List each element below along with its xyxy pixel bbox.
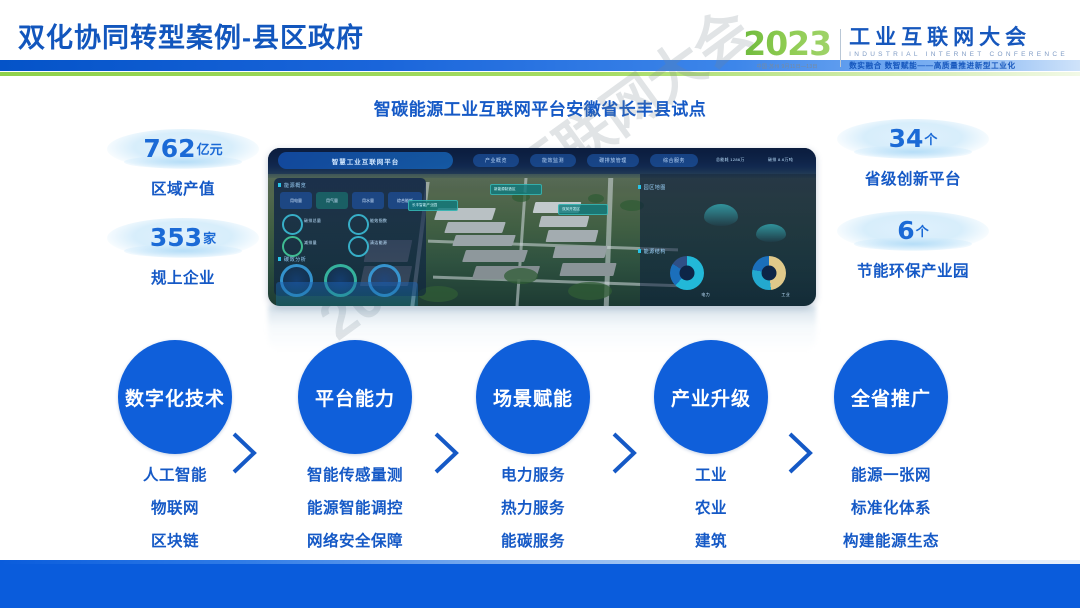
- logo-divider: [840, 29, 841, 67]
- factory-block: [462, 250, 528, 262]
- dashboard-platform-title: 智慧工业互联网平台: [278, 152, 453, 169]
- dashboard-section-energy: 能源概览: [284, 182, 306, 189]
- dashboard-screenshot[interactable]: 智慧工业互联网平台 产业概览 能效监测 碳排放管理 综合服务 总能耗 1286万…: [268, 148, 816, 306]
- stat-value: 762: [143, 134, 195, 163]
- dashboard-kpi-1: 用气量: [316, 192, 348, 209]
- stat-value: 6: [897, 216, 914, 245]
- map-tag-title: 新能源制造区: [494, 187, 538, 192]
- gauge-ring-1: [282, 236, 303, 257]
- donut-chart-1: [752, 256, 786, 290]
- flow-node-scenario-enablement[interactable]: 场景赋能 电力服务 热力服务 能碳服务: [438, 340, 628, 566]
- flow-item: 智能传感量测: [260, 467, 450, 484]
- flow-arrow-1: [228, 430, 262, 476]
- header-rule-green: [0, 72, 1080, 76]
- flow-node-items: 能源一张网 标准化体系 构建能源生态: [796, 467, 986, 550]
- stat-label: 规上企业: [88, 266, 278, 288]
- map-tag-title: 长丰智能产业园: [412, 203, 454, 208]
- tree-cluster: [568, 282, 612, 300]
- flow-node-platform-capability[interactable]: 平台能力 智能传感量测 能源智能调控 网络安全保障: [260, 340, 450, 566]
- dashboard-nav-item-3[interactable]: 综合服务: [650, 154, 698, 167]
- factory-block: [553, 246, 608, 258]
- stat-pod: 34个: [818, 116, 1008, 160]
- flow-node-items: 智能传感量测 能源智能调控 网络安全保障: [260, 467, 450, 550]
- flow-item: 标准化体系: [796, 500, 986, 517]
- stat-unit: 亿元: [197, 139, 223, 158]
- stat-unit: 个: [916, 221, 929, 240]
- flow-item: 区块链: [80, 533, 270, 550]
- flow-node-circle: 平台能力: [298, 340, 412, 454]
- map-tag-title: 双凤开发区: [562, 207, 604, 212]
- donut-legend-1: 工业: [781, 292, 790, 298]
- flow-item: 能源智能调控: [260, 500, 450, 517]
- slide-root: 双化协同转型案例-县区政府 2023 中国·苏州 9月11日—13日 工业互联网…: [0, 0, 1080, 608]
- stat-pod: 6个: [818, 208, 1008, 252]
- kpi-label: 用电量: [290, 198, 302, 204]
- dashboard-top-metric-1: 碳排 8.6万吨: [768, 157, 793, 163]
- flow-item: 农业: [616, 500, 806, 517]
- stat-value: 34: [889, 124, 924, 153]
- flow-node-circle: 场景赋能: [476, 340, 590, 454]
- kpi-label: 用水量: [362, 198, 374, 204]
- logo-year: 2023: [743, 27, 831, 60]
- donut-chart-0: [670, 256, 704, 290]
- dashboard-mini-chart: [276, 282, 418, 306]
- factory-block: [539, 216, 590, 227]
- gauge-label-2: 能效指数: [370, 218, 387, 224]
- stat-label: 省级创新平台: [818, 167, 1008, 189]
- kpi-label: 用气量: [326, 198, 338, 204]
- gauge-ring-2: [348, 214, 369, 235]
- flow-item: 网络安全保障: [260, 533, 450, 550]
- dashboard-canvas: 智慧工业互联网平台 产业概览 能效监测 碳排放管理 综合服务 总能耗 1286万…: [268, 148, 816, 306]
- flow-item: 物联网: [80, 500, 270, 517]
- factory-block: [444, 222, 506, 233]
- stat-card-regional-output: 762亿元 区域产值: [88, 126, 278, 199]
- dashboard-right-panel: [640, 174, 816, 306]
- dashboard-top-metric-0: 总能耗 1286万: [716, 157, 745, 163]
- logo-english-title: INDUSTRIAL INTERNET CONFERENCE: [849, 51, 1068, 58]
- gauge-label-1: 减排量: [304, 240, 317, 246]
- factory-block: [546, 230, 599, 242]
- page-title: 双化协同转型案例-县区政府: [18, 16, 364, 55]
- stat-pod: 353家: [88, 215, 278, 259]
- flow-node-province-rollout[interactable]: 全省推广 能源一张网 标准化体系 构建能源生态: [796, 340, 986, 566]
- gauge-label-0: 碳排总量: [304, 218, 321, 224]
- dashboard-kpi-2: 用水量: [352, 192, 384, 209]
- flow-node-circle: 产业升级: [654, 340, 768, 454]
- dashboard-section-carbon: 碳效分析: [284, 256, 306, 263]
- stat-pod: 762亿元: [88, 126, 278, 170]
- factory-block: [559, 263, 616, 276]
- dashboard-nav-item-1[interactable]: 能效监测: [530, 154, 576, 167]
- dashboard-kpi-0: 用电量: [280, 192, 312, 209]
- stat-label: 节能环保产业园: [818, 259, 1008, 281]
- flow-node-items: 电力服务 热力服务 能碳服务: [438, 467, 628, 550]
- footer-bar: [0, 564, 1080, 608]
- donut-legend-0: 电力: [701, 292, 710, 298]
- flow-item: 能碳服务: [438, 533, 628, 550]
- flow-item: 能源一张网: [796, 467, 986, 484]
- map-tag-1[interactable]: 新能源制造区: [490, 184, 542, 195]
- stat-unit: 家: [203, 228, 216, 247]
- stat-card-enterprises: 353家 规上企业: [88, 215, 278, 288]
- flow-node-circle: 全省推广: [834, 340, 948, 454]
- map-beam: [756, 224, 786, 242]
- flow-item: 构建能源生态: [796, 533, 986, 550]
- dashboard-nav-item-0[interactable]: 产业概览: [473, 154, 519, 167]
- dashboard-donut-section: 能源结构: [644, 248, 666, 255]
- logo-main-title: 工业互联网大会: [849, 27, 1068, 49]
- flow-item: 建筑: [616, 533, 806, 550]
- tree-cluster: [588, 194, 604, 203]
- stat-unit: 个: [924, 129, 937, 148]
- logo-year-block: 2023 中国·苏州 9月11日—13日: [743, 27, 840, 70]
- map-beam: [704, 204, 738, 226]
- conference-logo: 2023 中国·苏州 9月11日—13日 工业互联网大会 INDUSTRIAL …: [743, 27, 1068, 71]
- flow-item: 电力服务: [438, 467, 628, 484]
- flow-node-circle: 数字化技术: [118, 340, 232, 454]
- logo-text-block: 工业互联网大会 INDUSTRIAL INTERNET CONFERENCE 数…: [849, 27, 1068, 71]
- map-tag-0[interactable]: 长丰智能产业园: [408, 200, 458, 211]
- dashboard-section-map: 园区地图: [644, 184, 666, 191]
- stat-card-innovation-platforms: 34个 省级创新平台: [818, 116, 1008, 189]
- map-tag-2[interactable]: 双凤开发区: [558, 204, 608, 215]
- stat-value: 353: [150, 223, 202, 252]
- flow-item: 热力服务: [438, 500, 628, 517]
- factory-block: [452, 235, 516, 246]
- flow-item: 工业: [616, 467, 806, 484]
- logo-tagline: 数实融合 数智赋能——高质量推进新型工业化: [849, 60, 1068, 71]
- gauge-label-3: 清洁能源: [370, 240, 387, 246]
- logo-date: 中国·苏州 9月11日—13日: [757, 63, 818, 70]
- gauge-ring-3: [348, 236, 369, 257]
- dashboard-nav-item-2[interactable]: 碳排放管理: [587, 154, 639, 167]
- tree-cluster: [504, 268, 538, 284]
- stat-label: 区域产值: [88, 177, 278, 199]
- stat-card-eco-parks: 6个 节能环保产业园: [818, 208, 1008, 281]
- gauge-ring-0: [282, 214, 303, 235]
